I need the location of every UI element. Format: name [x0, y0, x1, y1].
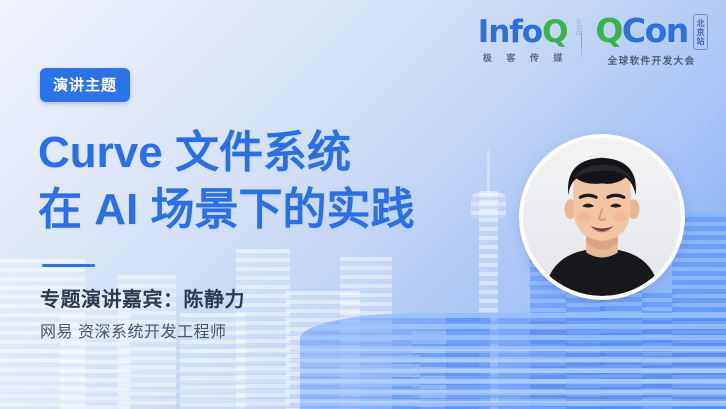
qcon-city-badge: 北京站 — [693, 14, 708, 50]
logo-bar: InfoQ InfoQ 极 客 传 媒 QCon 北京站 全球软件开发大会 — [477, 14, 708, 67]
title-line-2: 在 AI 场景下的实践 — [38, 181, 414, 238]
topic-tag-badge: 演讲主题 — [40, 68, 130, 102]
speaker-name: 专题演讲嘉宾：陈静力 — [40, 283, 245, 312]
qcon-wordmark-row: QCon 北京站 — [595, 14, 708, 50]
avatar-photo — [523, 138, 681, 296]
infoq-trademark: InfoQ — [574, 19, 580, 35]
qcon-word-q: Q — [595, 11, 622, 50]
infoq-wordmark: InfoQ InfoQ — [478, 17, 568, 48]
infoq-subtitle: 极 客 传 媒 — [477, 51, 569, 64]
qcon-subtitle: 全球软件开发大会 — [608, 53, 696, 67]
conference-poster: InfoQ InfoQ 极 客 传 媒 QCon 北京站 全球软件开发大会 演讲… — [0, 0, 726, 409]
tv-tower-spire — [487, 150, 490, 196]
tv-tower-pod — [471, 193, 506, 219]
qcon-word-con: Con — [622, 11, 688, 50]
infoq-word-info: Info — [478, 14, 542, 50]
avatar — [519, 134, 685, 300]
qcon-logo[interactable]: QCon 北京站 全球软件开发大会 — [595, 14, 708, 67]
infoq-logo[interactable]: InfoQ InfoQ 极 客 传 媒 — [477, 17, 569, 64]
page-title: Curve 文件系统 在 AI 场景下的实践 — [38, 124, 414, 238]
qcon-wordmark: QCon — [595, 14, 687, 47]
logo-divider — [581, 20, 582, 62]
skyline-ground-stripes — [0, 349, 726, 409]
infoq-word-q: Q — [542, 14, 567, 50]
speaker-portrait-illustration — [523, 138, 681, 296]
title-line-1: Curve 文件系统 — [38, 124, 414, 181]
speaker-role: 网易 资深系统开发工程师 — [40, 318, 226, 342]
title-divider-rule — [42, 264, 95, 267]
